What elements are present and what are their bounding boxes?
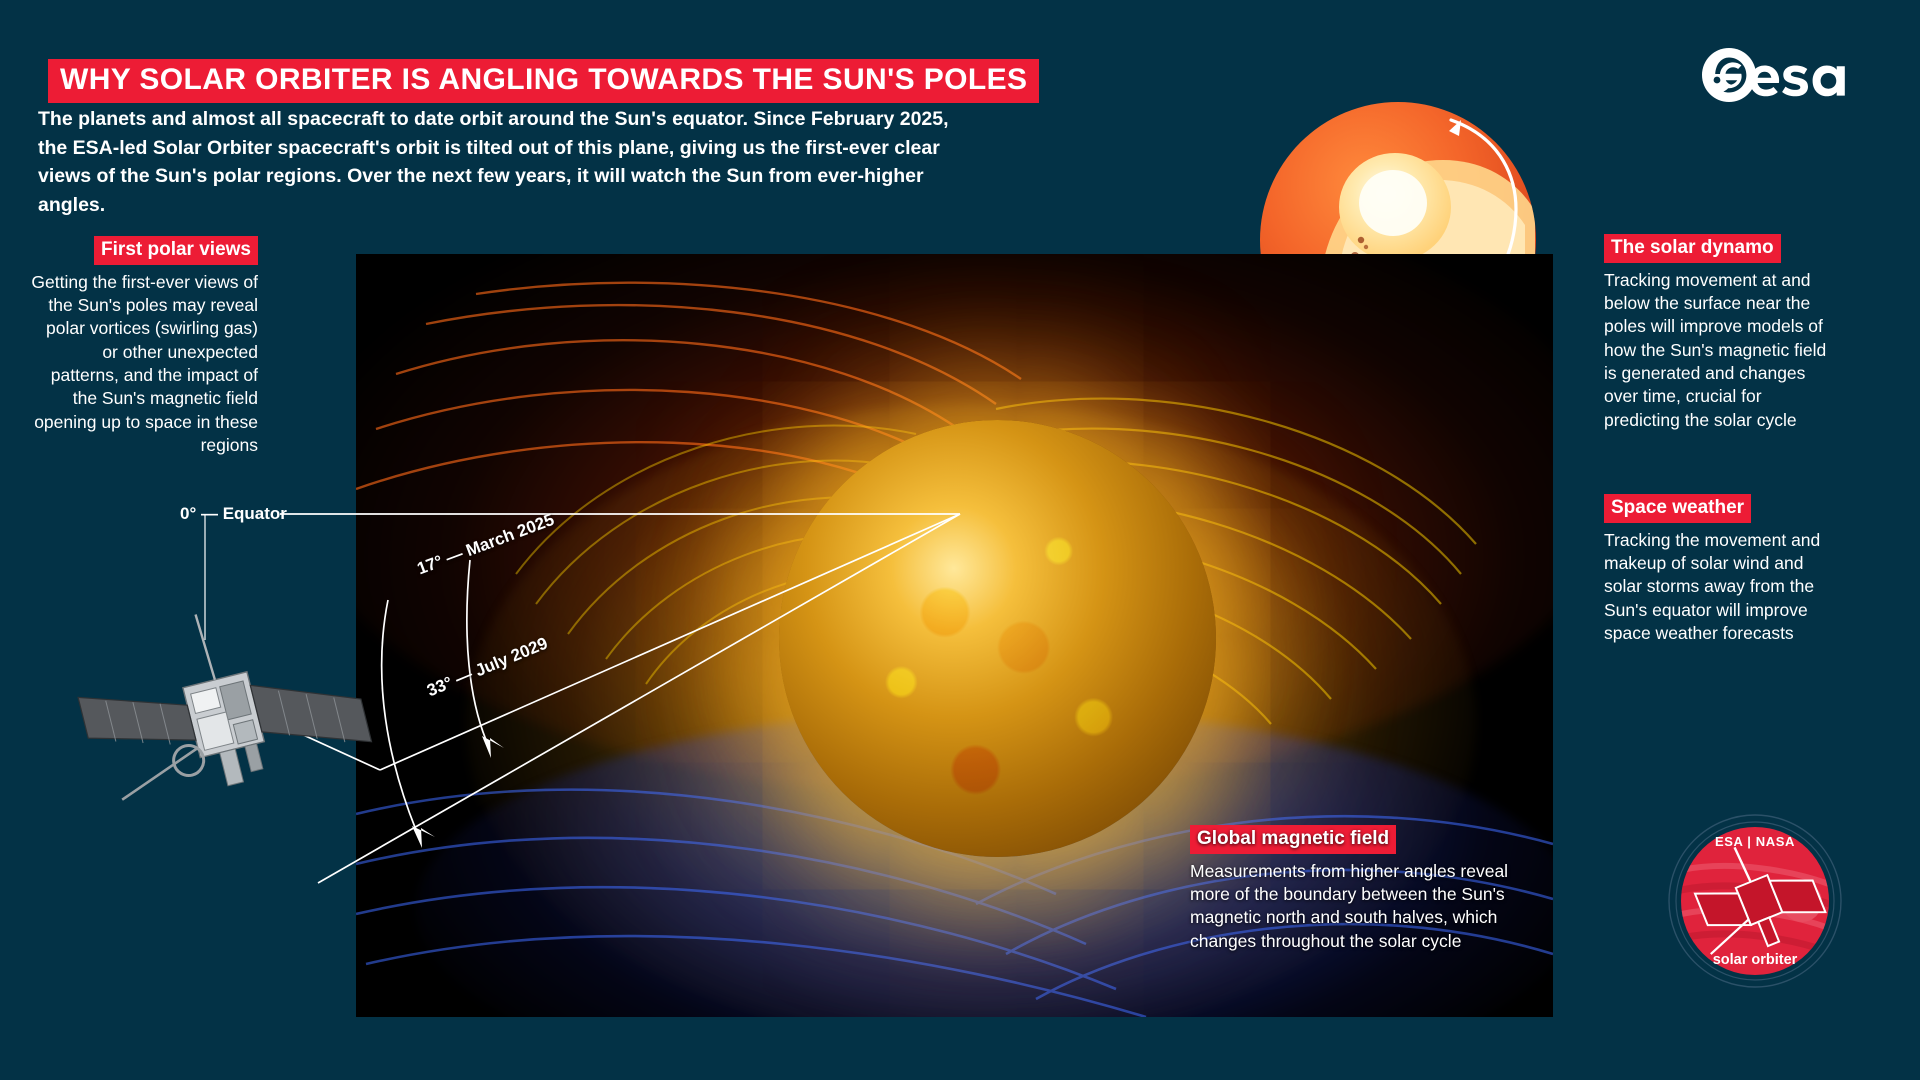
sun-surface-texture (779, 420, 1216, 857)
page-title: WHY SOLAR ORBITER IS ANGLING TOWARDS THE… (48, 59, 1039, 103)
callout-solar-dynamo: The solar dynamo Tracking movement at an… (1604, 234, 1836, 432)
callout-first-polar-views: First polar views Getting the first-ever… (30, 236, 258, 457)
callout-space-weather: Space weather Tracking the movement and … (1604, 494, 1836, 645)
esa-logo-icon (1702, 44, 1862, 106)
equator-angle-label: 0° — Equator (180, 504, 287, 524)
callout-body-global-magnetic-field: Measurements from higher angles reveal m… (1190, 860, 1510, 953)
solar-orbiter-spacecraft-icon (62, 600, 392, 840)
callout-body-space-weather: Tracking the movement and makeup of sola… (1604, 529, 1836, 645)
patch-mission-label: solar orbiter (1660, 952, 1850, 968)
solar-orbiter-mission-patch-icon: ESA | NASA solar orbiter (1660, 806, 1850, 996)
callout-heading-global-magnetic-field: Global magnetic field (1190, 825, 1396, 854)
callout-global-magnetic-field: Global magnetic field Measurements from … (1190, 825, 1510, 953)
callout-heading-first-polar-views: First polar views (94, 236, 258, 265)
callout-heading-solar-dynamo: The solar dynamo (1604, 234, 1781, 263)
intro-paragraph: The planets and almost all spacecraft to… (38, 105, 958, 220)
sun-disc (779, 420, 1216, 857)
callout-heading-space-weather: Space weather (1604, 494, 1751, 523)
patch-agencies-label: ESA | NASA (1660, 834, 1850, 849)
callout-body-first-polar-views: Getting the first-ever views of the Sun'… (30, 271, 258, 457)
callout-body-solar-dynamo: Tracking movement at and below the surfa… (1604, 269, 1836, 432)
